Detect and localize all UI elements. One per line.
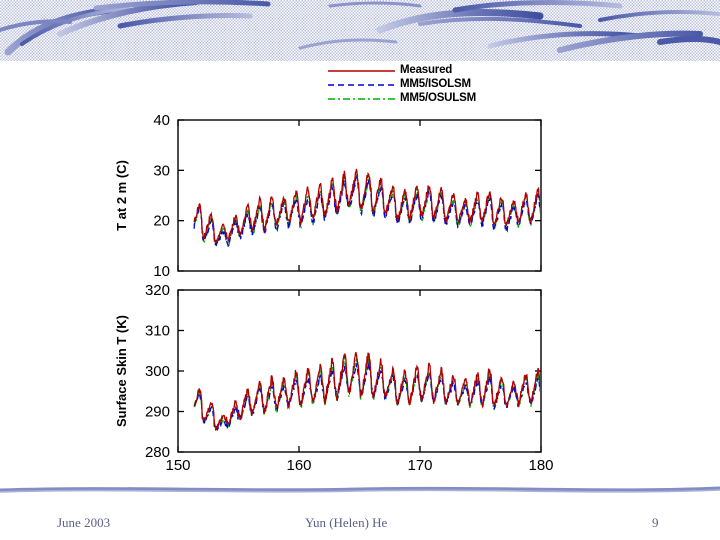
x-tick-label: 160 bbox=[286, 457, 311, 474]
y-tick-label: 300 bbox=[145, 363, 170, 380]
x-tick-label: 150 bbox=[165, 457, 190, 474]
footer-page-number: 9 bbox=[652, 515, 659, 531]
plot-panel-air-temperature: 10203040T at 2 m (C) bbox=[114, 112, 541, 280]
legend-label-isolsm: MM5/ISOLSM bbox=[400, 78, 471, 90]
matlab-figure: 10203040T at 2 m (C)28029030031032015016… bbox=[0, 58, 720, 482]
legend-label-osulsm: MM5/OSULSM bbox=[400, 92, 476, 104]
y-tick-label: 290 bbox=[145, 404, 170, 421]
legend-label-measured: Measured bbox=[400, 64, 452, 76]
footer-divider bbox=[0, 482, 720, 496]
slide-header-band bbox=[0, 0, 720, 61]
legend-lines bbox=[328, 71, 395, 99]
y-tick-label: 30 bbox=[153, 162, 170, 179]
plot-panel-surface-skin-temperature: 280290300310320150160170180Surface Skin … bbox=[114, 282, 554, 474]
y-tick-label: 20 bbox=[153, 213, 170, 230]
axes-box bbox=[178, 290, 541, 452]
x-tick-label: 180 bbox=[528, 457, 553, 474]
y-tick-label: 10 bbox=[153, 263, 170, 280]
y-axis-label: Surface Skin T (K) bbox=[114, 315, 129, 427]
x-axis-label: Julian Day, 1987 (d) bbox=[295, 479, 425, 482]
footer-date: June 2003 bbox=[57, 515, 110, 531]
y-tick-label: 310 bbox=[145, 323, 170, 340]
y-axis-label: T at 2 m (C) bbox=[114, 160, 129, 231]
footer-author: Yun (Helen) He bbox=[305, 515, 387, 531]
y-tick-label: 320 bbox=[145, 282, 170, 299]
figure-canvas: 10203040T at 2 m (C)28029030031032015016… bbox=[0, 58, 720, 482]
x-tick-label: 170 bbox=[407, 457, 432, 474]
header-band-strokes bbox=[0, 0, 720, 61]
y-tick-label: 40 bbox=[153, 112, 170, 129]
